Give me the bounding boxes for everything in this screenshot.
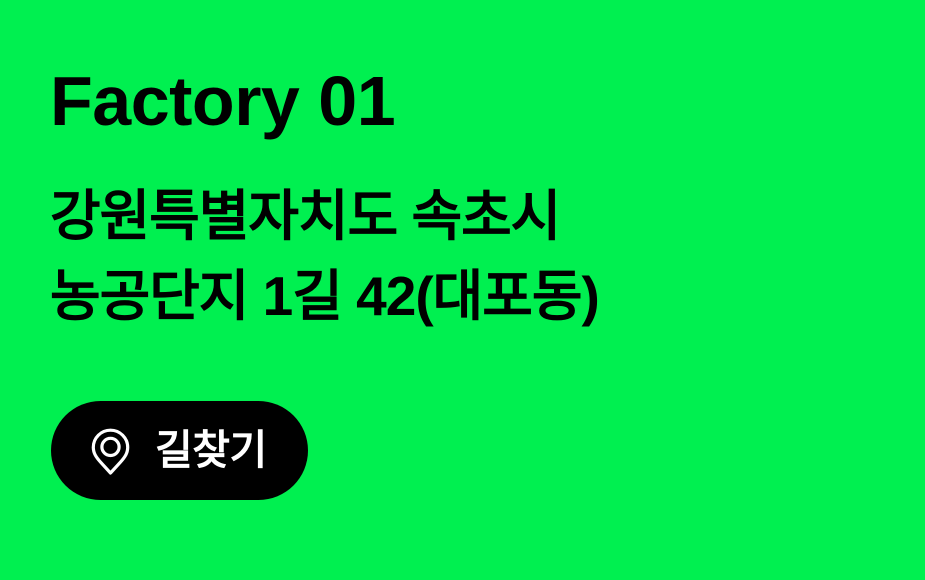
address-line-2: 농공단지 1길 42(대포동) [50, 256, 599, 336]
page-title: Factory 01 [50, 66, 395, 136]
directions-button[interactable]: 길찾기 [51, 401, 308, 500]
location-card: Factory 01 강원특별자치도 속초시 농공단지 1길 42(대포동) 길… [0, 0, 925, 580]
address-line-1: 강원특별자치도 속초시 [50, 176, 599, 256]
directions-button-label: 길찾기 [155, 430, 267, 471]
map-pin-icon [90, 427, 131, 475]
address-block: 강원특별자치도 속초시 농공단지 1길 42(대포동) [50, 176, 599, 336]
